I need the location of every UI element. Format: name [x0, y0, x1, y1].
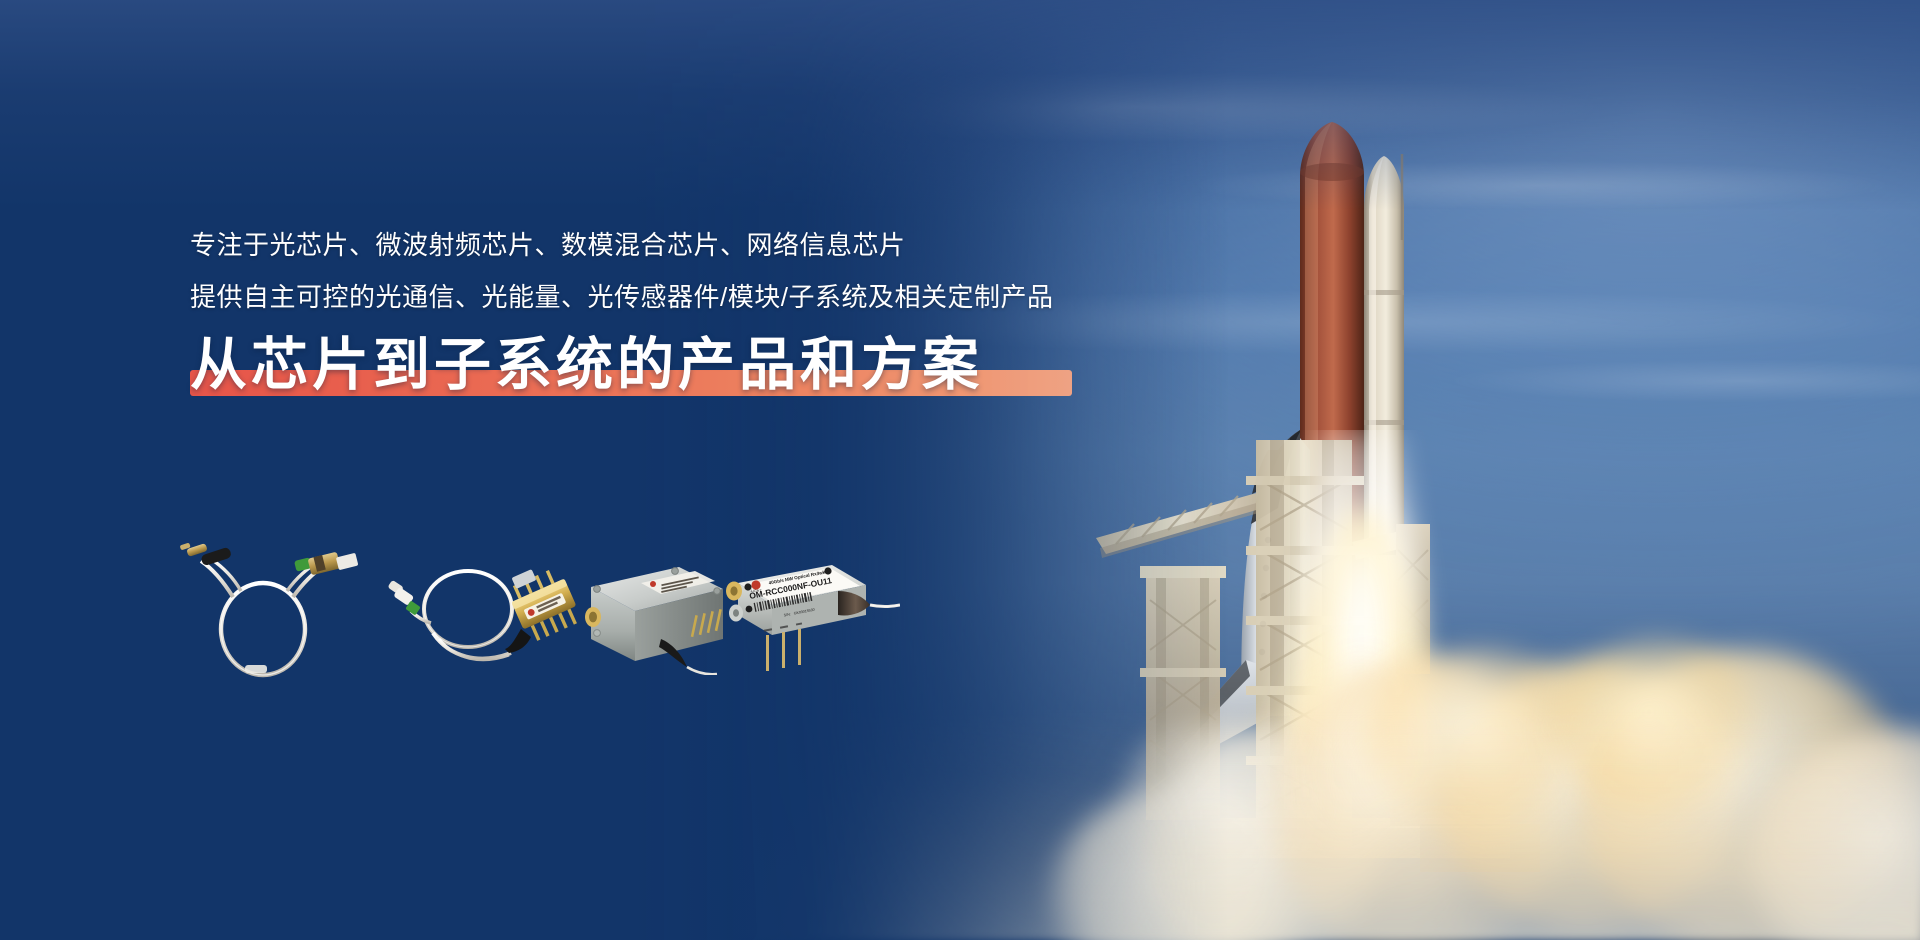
hero-headline: 从芯片到子系统的产品和方案	[190, 334, 983, 398]
product-coaxial-receiver-module: LIGHT 40Gb/s MW Optical Rx/Iwk OM-RCC000…	[720, 543, 900, 683]
hero-headline-wrap: 从芯片到子系统的产品和方案	[190, 334, 983, 402]
hero-copy-block: 专注于光芯片、微波射频芯片、数模混合芯片、网络信息芯片 提供自主可控的光通信、光…	[190, 232, 1190, 402]
product-fiber-pigtail-coil	[175, 535, 370, 685]
hero-subline-1: 专注于光芯片、微波射频芯片、数模混合芯片、网络信息芯片	[190, 232, 1190, 258]
ground-haze	[730, 710, 1920, 940]
hero-subline-2: 提供自主可控的光通信、光能量、光传感器件/模块/子系统及相关定制产品	[190, 284, 1190, 310]
hero-banner: 专注于光芯片、微波射频芯片、数模混合芯片、网络信息芯片 提供自主可控的光通信、光…	[0, 0, 1920, 940]
product-butterfly-laser-module	[375, 549, 590, 679]
product-photo-row: LIGHT 40Gb/s MW Optical Rx/Iwk OM-RCC000…	[175, 525, 1045, 695]
product-rf-optical-module-box	[575, 557, 730, 675]
